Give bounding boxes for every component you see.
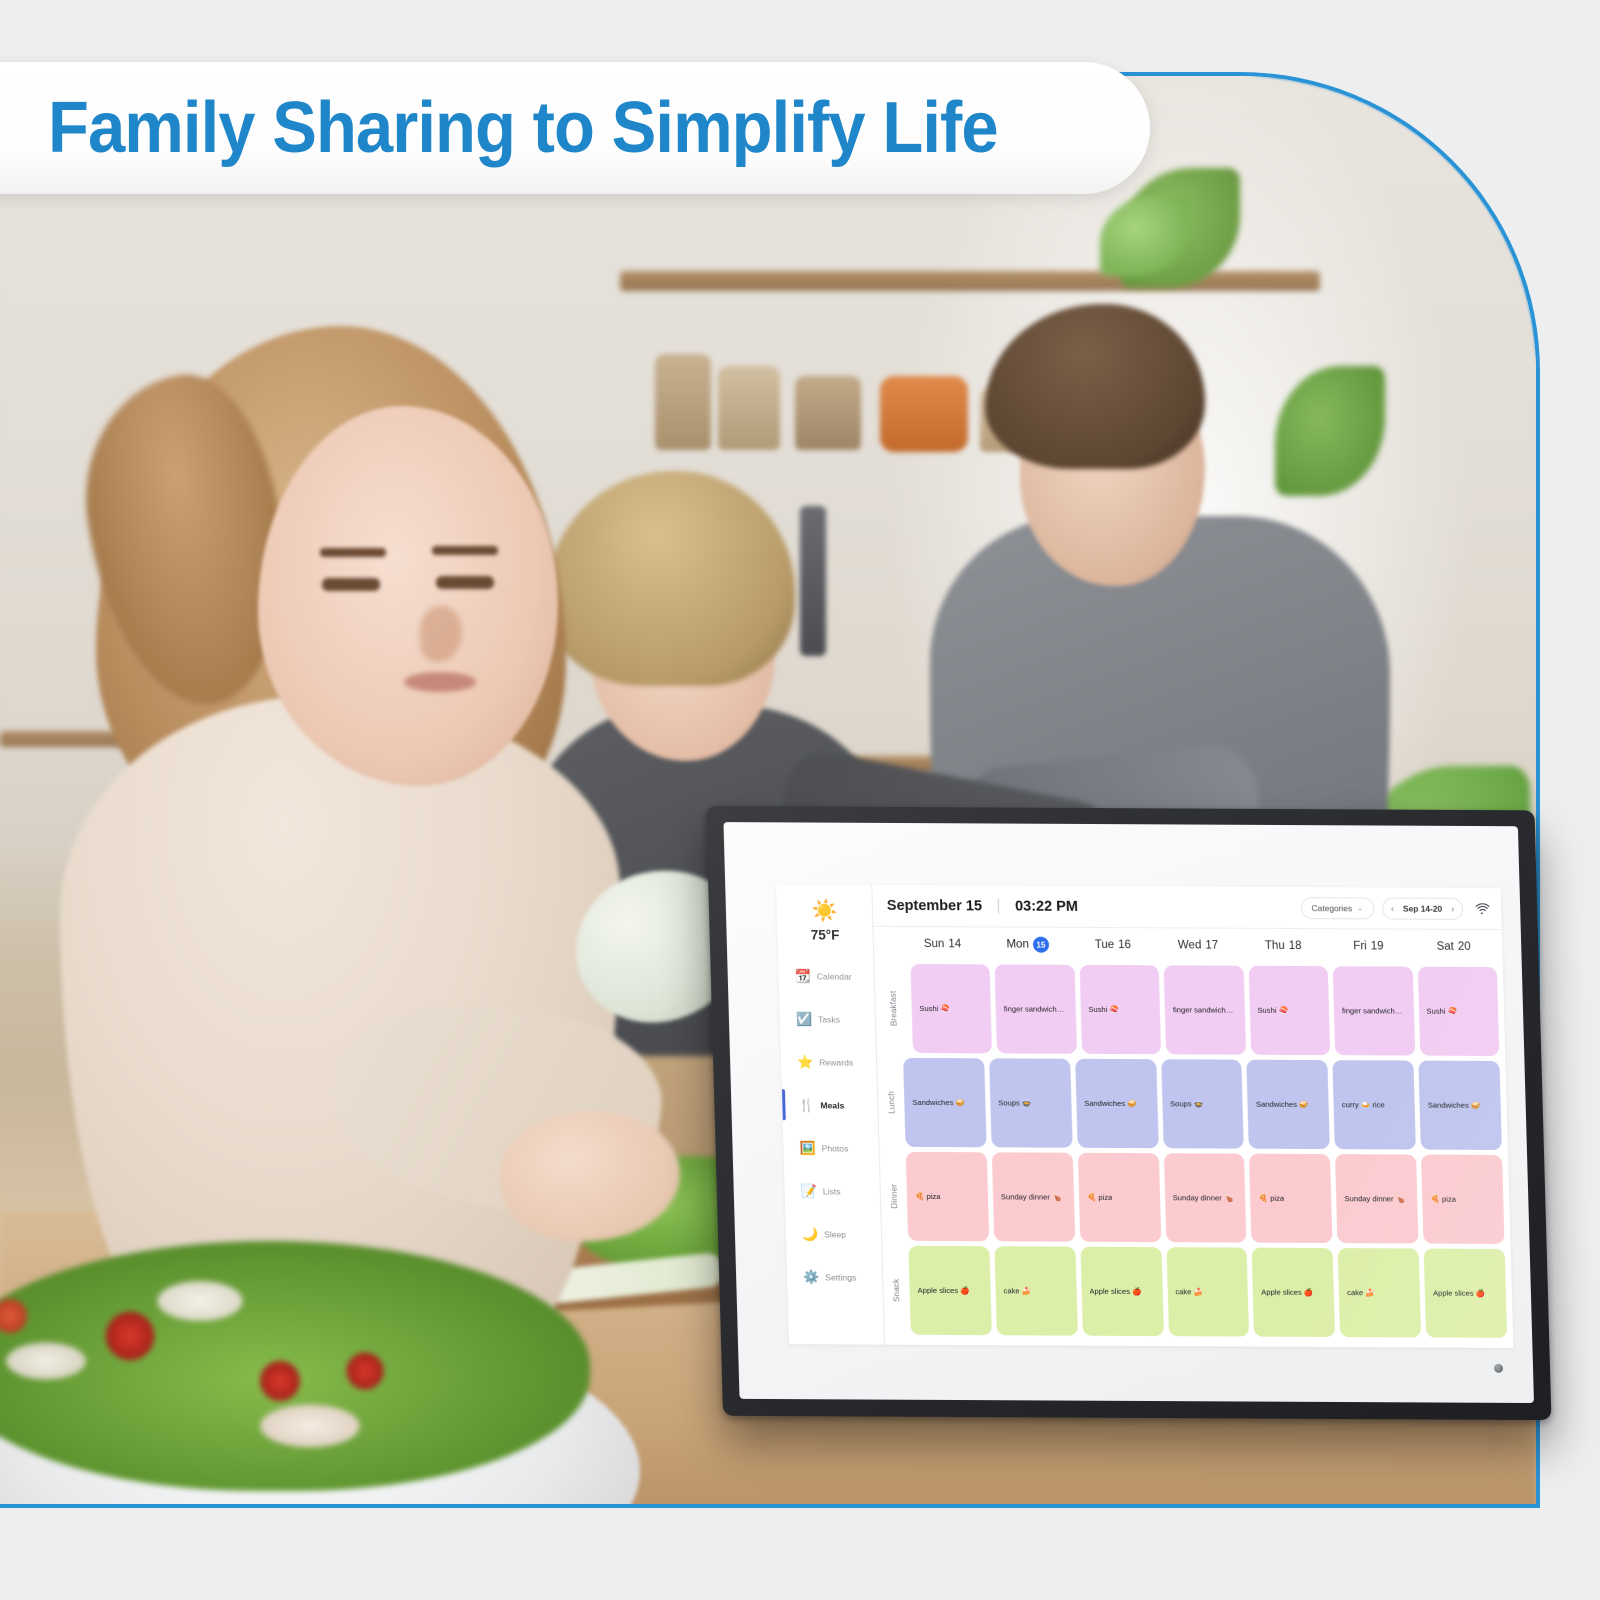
- title-divider: [998, 898, 999, 913]
- week-range-label: Sep 14-20: [1403, 903, 1442, 913]
- current-time: 03:22 PM: [1015, 898, 1078, 914]
- meal-cell[interactable]: Soups 🍲: [989, 1058, 1072, 1147]
- sidebar-item-lists[interactable]: 📝 Lists: [784, 1169, 880, 1212]
- day-date: 18: [1289, 940, 1302, 952]
- meal-cell[interactable]: cake 🍰: [994, 1246, 1077, 1335]
- sensor-dot-icon: [1494, 1364, 1503, 1373]
- row-cells: 🍕 piza Sunday dinner 🍗 🍕 piza Sunday din…: [906, 1149, 1505, 1246]
- row-label-lunch: Lunch: [877, 1055, 906, 1149]
- day-column-header[interactable]: Sun 14: [899, 927, 985, 961]
- day-label: Fri: [1353, 940, 1367, 952]
- day-label: Wed: [1178, 939, 1202, 951]
- jar-3: [795, 376, 861, 450]
- meal-cell[interactable]: cake 🍰: [1166, 1247, 1249, 1336]
- day-date: 19: [1371, 940, 1384, 952]
- sun-icon: ☀️: [811, 900, 838, 921]
- row-label-dinner: Dinner: [880, 1149, 909, 1243]
- tasks-icon: ☑️: [796, 1012, 811, 1025]
- sidebar-item-label: Photos: [821, 1143, 848, 1153]
- meal-row-breakfast: Breakfast Sushi 🍣 finger sandwiches 🥪 Su…: [874, 961, 1499, 1058]
- day-column-header[interactable]: Thu 18: [1240, 929, 1326, 963]
- day-label: Sun: [924, 938, 945, 950]
- day-column-header[interactable]: Fri 19: [1325, 929, 1411, 963]
- row-cells: Apple slices 🍎 cake 🍰 Apple slices 🍎 cak…: [908, 1243, 1507, 1340]
- day-column-header[interactable]: Tue 16: [1070, 928, 1156, 962]
- meal-cell[interactable]: Sushi 🍣: [1248, 965, 1330, 1054]
- today-badge: 15: [1033, 937, 1049, 953]
- meal-cell[interactable]: Sunday dinner 🍗: [992, 1152, 1075, 1241]
- meal-row-snack: Snack Apple slices 🍎 cake 🍰 Apple slices…: [882, 1243, 1507, 1340]
- sidebar-item-rewards[interactable]: ⭐ Rewards: [781, 1040, 877, 1083]
- current-date: September 15: [887, 897, 983, 913]
- day-label: Thu: [1265, 940, 1285, 952]
- sidebar-item-label: Tasks: [818, 1014, 840, 1024]
- calendar-icon: 📆: [795, 969, 810, 982]
- pot-orange: [880, 376, 968, 452]
- meal-cell[interactable]: Soups 🍲: [1161, 1059, 1244, 1148]
- day-date: 17: [1205, 940, 1218, 952]
- sidebar-item-label: Lists: [823, 1186, 841, 1196]
- meal-cell[interactable]: Apple slices 🍎: [908, 1245, 991, 1334]
- meal-cell[interactable]: Apple slices 🍎: [1252, 1247, 1335, 1336]
- headline-banner: Family Sharing to Simplify Life: [0, 62, 1150, 194]
- main-panel: September 15 03:22 PM Categories ⌄ ‹ Sep…: [872, 885, 1513, 1348]
- sidebar-item-label: Calendar: [817, 971, 852, 981]
- utensil-hook: [800, 506, 826, 656]
- girl-eye-left: [322, 578, 380, 591]
- meal-cell[interactable]: finger sandwiches 🥪: [995, 964, 1077, 1053]
- topbar: September 15 03:22 PM Categories ⌄ ‹ Sep…: [872, 885, 1502, 930]
- day-label: Tue: [1095, 939, 1115, 951]
- meal-cell[interactable]: finger sandwiches 🥪: [1164, 965, 1246, 1054]
- meal-cell[interactable]: 🍕 piza: [1078, 1152, 1161, 1241]
- weather-widget: ☀️ 75°F: [776, 894, 873, 954]
- sidebar-item-photos[interactable]: 🖼️ Photos: [783, 1126, 879, 1169]
- adult-figure-hair: [985, 304, 1205, 469]
- photos-icon: 🖼️: [799, 1141, 814, 1154]
- meal-cell[interactable]: Sunday dinner 🍗: [1163, 1153, 1246, 1242]
- smart-display-device: ☀️ 75°F 📆 Calendar ☑️ Tasks ⭐ Rewards 🍴: [706, 806, 1551, 1420]
- day-label: Mon: [1006, 939, 1029, 951]
- day-date: 14: [948, 938, 961, 950]
- meal-cell[interactable]: Sushi 🍣: [1079, 964, 1161, 1053]
- sidebar-item-sleep[interactable]: 🌙 Sleep: [785, 1212, 881, 1255]
- lists-icon: 📝: [801, 1184, 816, 1197]
- sidebar-item-meals[interactable]: 🍴 Meals: [782, 1083, 878, 1126]
- shelf-upper: [620, 271, 1320, 291]
- sidebar-item-label: Rewards: [819, 1057, 853, 1067]
- topbar-spacer: [1086, 906, 1293, 907]
- meal-cell[interactable]: Apple slices 🍎: [1080, 1246, 1163, 1335]
- meal-cell[interactable]: finger sandwiches 🥪: [1333, 966, 1415, 1055]
- meal-cell[interactable]: Sandwiches 🥪: [903, 1057, 986, 1146]
- girl-brow-right: [432, 546, 498, 555]
- row-label-breakfast: Breakfast: [874, 961, 912, 1055]
- jar-2: [718, 366, 780, 450]
- day-column-header[interactable]: Sat 20: [1411, 930, 1497, 964]
- day-date: 16: [1118, 939, 1131, 951]
- prev-week-button[interactable]: ‹: [1390, 903, 1395, 913]
- girl-brow-left: [320, 548, 386, 557]
- weather-temperature: 75°F: [811, 927, 840, 942]
- row-cells: Sushi 🍣 finger sandwiches 🥪 Sushi 🍣 fing…: [910, 961, 1499, 1058]
- meal-cell[interactable]: Sandwiches 🥪: [1419, 1060, 1502, 1149]
- day-header-row: Sun 14 Mon 15 Tue 16 Wed 17: [873, 927, 1502, 964]
- meal-plan-grid: Breakfast Sushi 🍣 finger sandwiches 🥪 Su…: [874, 961, 1513, 1348]
- chevron-down-icon: ⌄: [1357, 904, 1363, 912]
- meal-row-lunch: Lunch Sandwiches 🥪 Soups 🍲 Sandwiches 🥪 …: [877, 1055, 1502, 1152]
- meal-cell[interactable]: cake 🍰: [1338, 1248, 1421, 1337]
- row-label-snack: Snack: [882, 1243, 911, 1337]
- categories-dropdown[interactable]: Categories ⌄: [1300, 897, 1374, 919]
- row-cells: Sandwiches 🥪 Soups 🍲 Sandwiches 🥪 Soups …: [903, 1055, 1502, 1152]
- meal-cell[interactable]: Sushi 🍣: [1417, 966, 1499, 1055]
- sidebar-item-label: Sleep: [824, 1229, 846, 1239]
- meal-cell[interactable]: 🍕 piza: [1421, 1154, 1504, 1243]
- week-navigator[interactable]: ‹ Sep 14-20 ›: [1382, 897, 1464, 919]
- day-date: 20: [1458, 941, 1471, 953]
- next-week-button[interactable]: ›: [1450, 903, 1455, 913]
- device-screen: ☀️ 75°F 📆 Calendar ☑️ Tasks ⭐ Rewards 🍴: [723, 822, 1534, 1403]
- meal-cell[interactable]: Sandwiches 🥪: [1247, 1059, 1330, 1148]
- sidebar-item-label: Meals: [820, 1100, 844, 1110]
- sidebar-item-tasks[interactable]: ☑️ Tasks: [779, 997, 875, 1040]
- meals-icon: 🍴: [798, 1098, 813, 1111]
- meal-cell[interactable]: Sandwiches 🥪: [1075, 1058, 1158, 1147]
- plant-mid: [1275, 366, 1385, 496]
- page-title: Family Sharing to Simplify Life: [48, 87, 998, 169]
- categories-label: Categories: [1311, 903, 1352, 913]
- sidebar-item-settings[interactable]: ⚙️ Settings: [787, 1255, 883, 1298]
- family-hub-app: ☀️ 75°F 📆 Calendar ☑️ Tasks ⭐ Rewards 🍴: [776, 884, 1513, 1348]
- day-column-header-today[interactable]: Mon 15: [985, 927, 1071, 961]
- jar-1: [655, 354, 711, 450]
- meal-cell[interactable]: Sunday dinner 🍗: [1335, 1154, 1418, 1243]
- meal-cell[interactable]: Apple slices 🍎: [1424, 1248, 1507, 1337]
- meal-cell[interactable]: 🍕 piza: [906, 1151, 989, 1240]
- meal-cell[interactable]: curry 🍛 rice: [1333, 1060, 1416, 1149]
- wifi-icon[interactable]: [1475, 902, 1490, 914]
- meal-row-dinner: Dinner 🍕 piza Sunday dinner 🍗 🍕 piza Sun…: [880, 1149, 1505, 1246]
- rewards-icon: ⭐: [797, 1055, 812, 1068]
- sidebar-item-calendar[interactable]: 📆 Calendar: [778, 954, 874, 997]
- meal-cell[interactable]: 🍕 piza: [1249, 1153, 1332, 1242]
- settings-icon: ⚙️: [803, 1270, 818, 1283]
- girl-mouth: [404, 672, 476, 692]
- girl-eye-right: [436, 576, 494, 589]
- day-column-header[interactable]: Wed 17: [1155, 928, 1241, 962]
- meal-cell[interactable]: Sushi 🍣: [910, 963, 992, 1052]
- day-label: Sat: [1436, 941, 1454, 953]
- sleep-icon: 🌙: [802, 1227, 817, 1240]
- sidebar: ☀️ 75°F 📆 Calendar ☑️ Tasks ⭐ Rewards 🍴: [776, 884, 885, 1344]
- boy-figure-hair: [545, 471, 795, 686]
- sidebar-item-label: Settings: [825, 1272, 856, 1282]
